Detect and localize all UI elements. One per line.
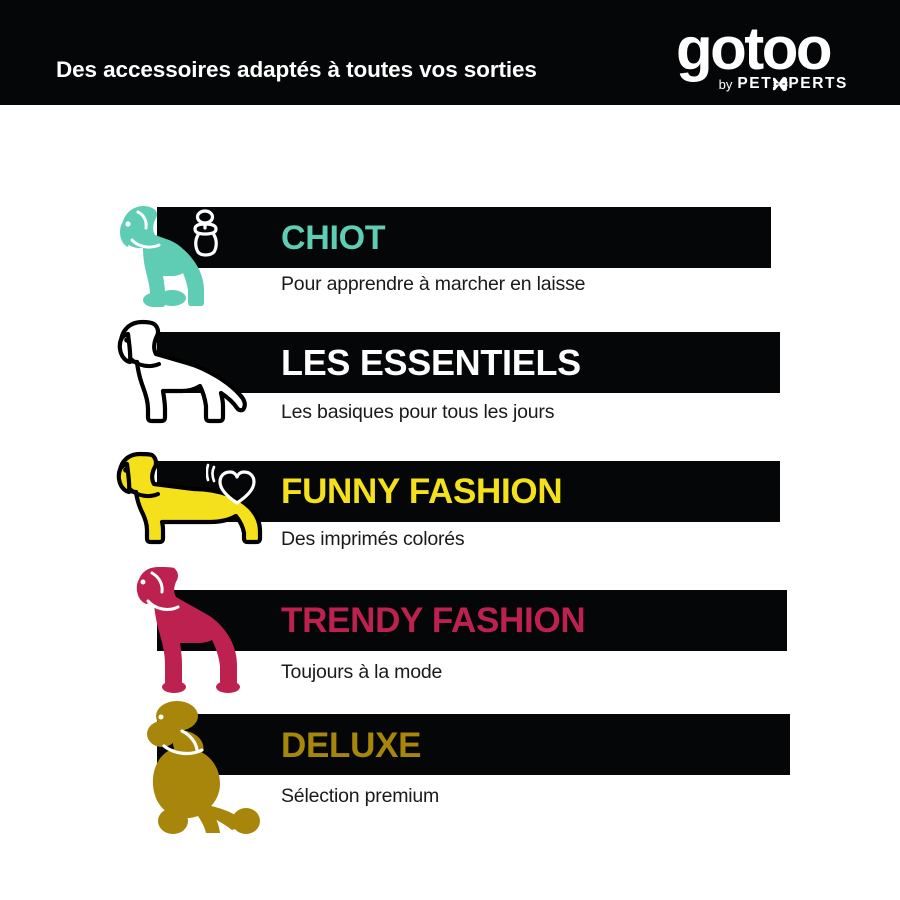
brand-tagline: by PET PERTS xyxy=(658,75,848,93)
category-title: DELUXE xyxy=(281,726,421,766)
page-title: Des accessoires adaptés à toutes vos sor… xyxy=(56,57,537,83)
bone-x-icon xyxy=(773,77,788,91)
category-subtitle: Sélection premium xyxy=(281,785,439,808)
category-subtitle: Des imprimés colorés xyxy=(281,528,464,551)
brand-pet-text: PET xyxy=(737,75,772,93)
poodle-silhouette-icon xyxy=(140,700,270,835)
brand-perts-text: PERTS xyxy=(788,75,848,93)
brand-petxperts-label: PET PERTS xyxy=(737,75,848,93)
category-subtitle: Pour apprendre à marcher en laisse xyxy=(281,273,585,296)
brand-wordmark: gotoo xyxy=(658,18,848,80)
category-title: CHIOT xyxy=(281,219,385,258)
brand-by-label: by xyxy=(719,77,733,92)
pacifier-icon xyxy=(185,209,231,261)
pointer-silhouette-icon xyxy=(128,563,252,694)
category-subtitle: Les basiques pour tous les jours xyxy=(281,401,554,424)
category-bar xyxy=(157,207,771,268)
category-title: TRENDY FASHION xyxy=(281,601,585,641)
labrador-outline-icon xyxy=(110,316,248,426)
heart-icon xyxy=(206,461,262,513)
category-subtitle: Toujours à la mode xyxy=(281,661,442,684)
category-title: LES ESSENTIELS xyxy=(281,342,581,384)
brand-logo[interactable]: gotoo by PET PERTS xyxy=(658,18,848,94)
category-title: FUNNY FASHION xyxy=(281,472,562,512)
